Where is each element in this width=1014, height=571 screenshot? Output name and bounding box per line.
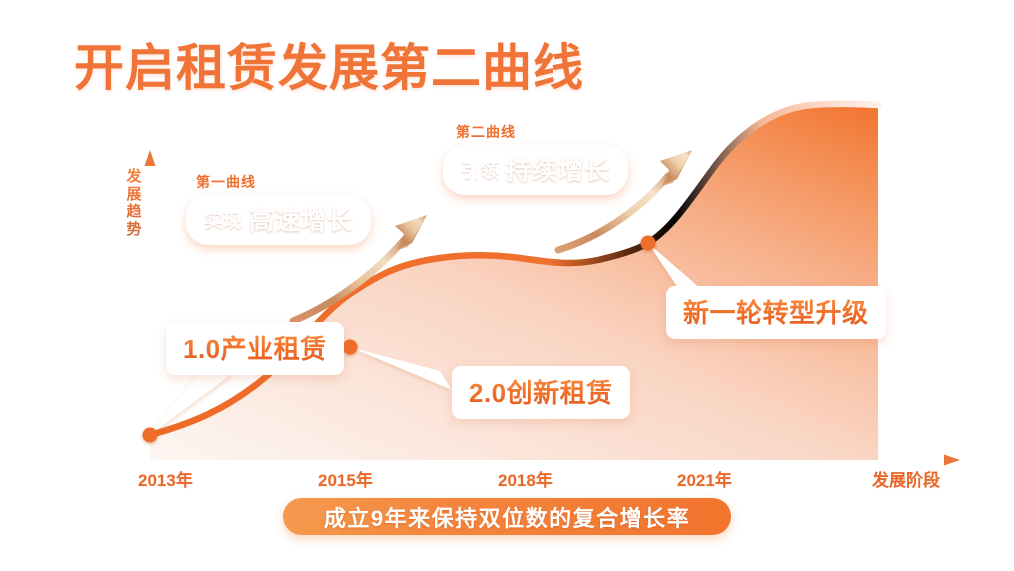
axis-x-tick-2013: 2013年 <box>138 466 193 491</box>
second-curve-pill: 引领 持续增长 <box>443 145 628 195</box>
infographic-canvas: 开启租赁发展第二曲线 <box>0 0 1014 571</box>
axis-y-label-char-1: 发 <box>122 168 146 186</box>
marker-2021 <box>641 236 656 251</box>
axis-x-tick-2018: 2018年 <box>498 466 553 491</box>
first-curve-pill: 实现 高速增长 <box>186 195 371 245</box>
second-curve-tag: 第二曲线 <box>456 122 516 142</box>
axis-x-label: 发展阶段 <box>872 466 940 491</box>
marker-2015 <box>343 340 358 355</box>
axis-x-tick-2015: 2015年 <box>318 466 373 491</box>
axis-x-tick-2021: 2021年 <box>677 466 732 491</box>
second-curve-pill-main: 持续增长 <box>506 151 610 187</box>
first-curve-pill-lead: 实现 <box>204 206 242 233</box>
callout-3-label: 新一轮转型升级 <box>683 298 869 328</box>
bottom-banner-text: 成立9年来保持双位数的复合增长率 <box>324 501 690 533</box>
axis-y-label-char-2: 展 <box>122 186 146 204</box>
first-curve-pill-main: 高速增长 <box>249 201 353 237</box>
callout-2-label: 2.0创新租赁 <box>469 378 613 408</box>
axis-y-label-char-3: 趋 <box>122 203 146 221</box>
axis-y-label-char-4: 势 <box>122 221 146 239</box>
second-curve-pill-lead: 引领 <box>461 156 499 183</box>
callout-new-round-upgrade: 新一轮转型升级 <box>666 286 886 339</box>
marker-2013 <box>143 428 158 443</box>
callout-1-0-industrial-leasing: 1.0产业租赁 <box>166 322 344 375</box>
callout-1-label: 1.0产业租赁 <box>183 334 327 364</box>
first-curve-tag: 第一曲线 <box>196 172 256 192</box>
axis-y <box>145 150 156 461</box>
callout-2-0-innovative-leasing: 2.0创新租赁 <box>452 366 630 419</box>
bottom-banner: 成立9年来保持双位数的复合增长率 <box>283 498 731 535</box>
axis-y-label: 发 展 趋 势 <box>122 168 146 239</box>
